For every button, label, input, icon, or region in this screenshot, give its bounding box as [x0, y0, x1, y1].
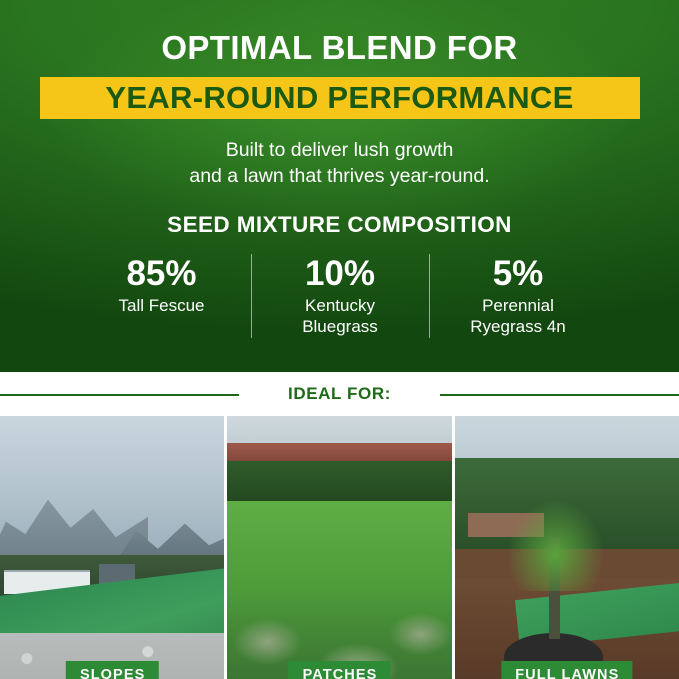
seed-composition-stats: 85% Tall Fescue 10% KentuckyBluegrass 5%…	[0, 254, 679, 338]
hero-content: OPTIMAL BLEND FOR YEAR-ROUND PERFORMANCE…	[0, 31, 679, 338]
photo-full-lawns: FULL LAWNS	[455, 416, 679, 679]
stat-item: 10% KentuckyBluegrass	[251, 254, 429, 338]
stat-percent: 5%	[438, 254, 599, 293]
stat-percent: 85%	[81, 254, 243, 293]
stat-label: Tall Fescue	[81, 295, 243, 316]
headline-line-1: OPTIMAL BLEND FOR	[0, 31, 679, 66]
subtitle-line-1: Built to deliver lush growth	[226, 139, 454, 161]
divider-rule-right	[440, 394, 679, 396]
divider-rule-left	[0, 394, 239, 396]
photo-caption: PATCHES	[289, 661, 391, 679]
subtitle: Built to deliver lush growth and a lawn …	[0, 137, 679, 189]
hero-section: OPTIMAL BLEND FOR YEAR-ROUND PERFORMANCE…	[0, 0, 679, 372]
stat-item: 85% Tall Fescue	[73, 254, 251, 338]
photo-caption: FULL LAWNS	[501, 661, 632, 679]
hedge-row	[227, 461, 451, 503]
photo-patches: PATCHES	[227, 416, 451, 679]
ideal-for-label: IDEAL FOR:	[274, 384, 405, 404]
ideal-for-divider: IDEAL FOR:	[0, 372, 679, 416]
subtitle-line-2: and a lawn that thrives year-round.	[189, 165, 489, 187]
headline-line-2: YEAR-ROUND PERFORMANCE	[105, 82, 573, 113]
photo-slopes: SLOPES	[0, 416, 224, 679]
stat-label: PerennialRyegrass 4n	[438, 295, 599, 338]
photo-caption: SLOPES	[66, 661, 158, 679]
tree-foliage	[508, 501, 602, 592]
headline-highlight-banner: YEAR-ROUND PERFORMANCE	[40, 77, 640, 119]
stat-label: KentuckyBluegrass	[260, 295, 421, 338]
photo-strip: SLOPES PATCHES FULL LAWNS	[0, 416, 679, 679]
marketing-infographic: OPTIMAL BLEND FOR YEAR-ROUND PERFORMANCE…	[0, 0, 679, 679]
stat-item: 5% PerennialRyegrass 4n	[429, 254, 607, 338]
stat-percent: 10%	[260, 254, 421, 293]
composition-heading: SEED MIXTURE COMPOSITION	[0, 212, 679, 238]
